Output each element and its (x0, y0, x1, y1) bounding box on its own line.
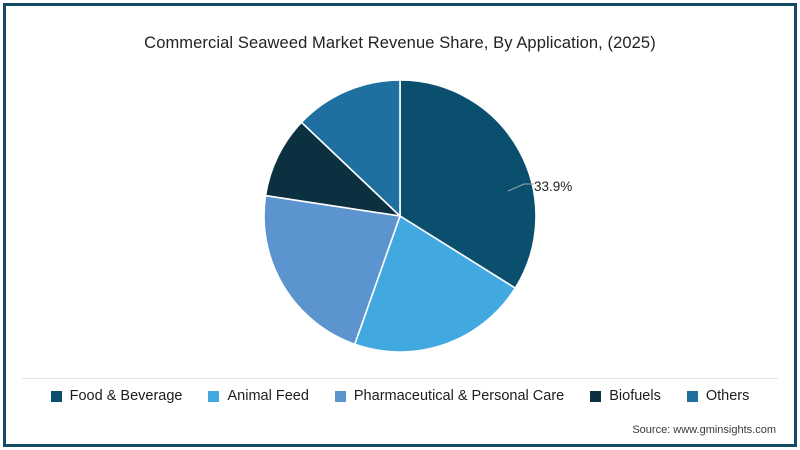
pie-chart-svg (0, 60, 800, 365)
legend-item-label: Pharmaceutical & Personal Care (354, 388, 564, 404)
source-attribution: Source: www.gminsights.com (632, 424, 776, 436)
legend-item-label: Animal Feed (227, 388, 308, 404)
pie-slice-group (264, 80, 536, 352)
legend-swatch-icon (335, 391, 346, 402)
legend-divider (22, 378, 778, 379)
chart-screenshot: Commercial Seaweed Market Revenue Share,… (0, 0, 800, 450)
legend-item[interactable]: Animal Feed (208, 388, 308, 404)
legend-item-label: Food & Beverage (70, 388, 183, 404)
data-label-food-beverage: 33.9% (534, 179, 572, 194)
pie-chart-area: 33.9% (0, 60, 800, 365)
legend-swatch-icon (208, 391, 219, 402)
legend-swatch-icon (590, 391, 601, 402)
legend-item[interactable]: Biofuels (590, 388, 661, 404)
legend-item-label: Biofuels (609, 388, 661, 404)
legend-swatch-icon (51, 391, 62, 402)
chart-legend: Food & BeverageAnimal FeedPharmaceutical… (0, 388, 800, 404)
legend-item[interactable]: Others (687, 388, 750, 404)
legend-item-label: Others (706, 388, 750, 404)
legend-item[interactable]: Food & Beverage (51, 388, 183, 404)
legend-item[interactable]: Pharmaceutical & Personal Care (335, 388, 564, 404)
page-title: Commercial Seaweed Market Revenue Share,… (0, 34, 800, 53)
legend-swatch-icon (687, 391, 698, 402)
